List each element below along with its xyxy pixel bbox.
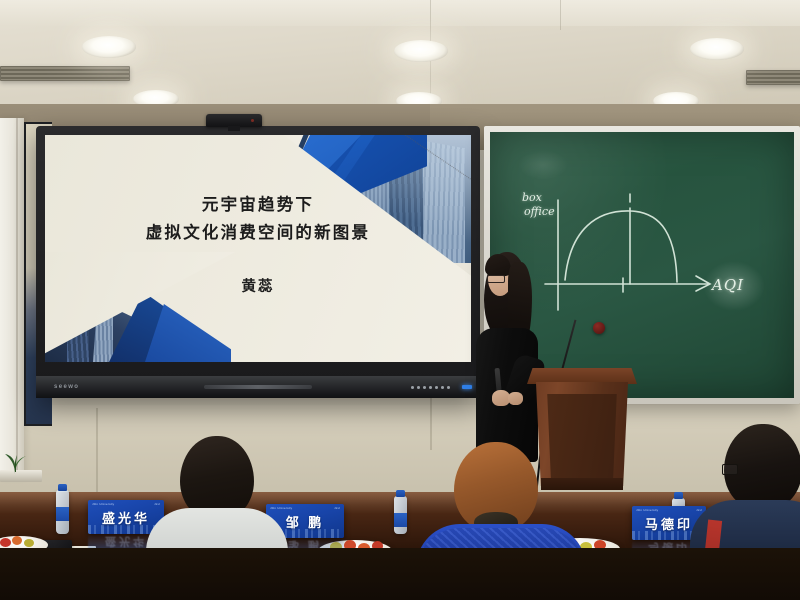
display-button[interactable] bbox=[429, 386, 432, 389]
ceiling-seam bbox=[560, 0, 561, 30]
nameplate-name: 盛光华 bbox=[102, 508, 150, 527]
camera-led-icon bbox=[251, 119, 254, 122]
display-ir-sensor-bar bbox=[204, 385, 312, 389]
bottle-cap bbox=[396, 490, 405, 497]
bottle-label bbox=[56, 507, 69, 521]
slide-text-block: 元宇宙趋势下 虚拟文化消费空间的新图景 黄蕊 bbox=[45, 135, 471, 362]
ceiling bbox=[0, 0, 800, 112]
display-button[interactable] bbox=[441, 386, 444, 389]
nameplate-name: 邹 鹏 bbox=[286, 512, 325, 531]
nameplate-org-right: JLU bbox=[334, 506, 340, 510]
display-button[interactable] bbox=[423, 386, 426, 389]
display-button-row[interactable] bbox=[411, 386, 450, 389]
floor-microphone-head bbox=[593, 322, 605, 334]
display-screen[interactable]: 元宇宙趋势下 虚拟文化消费空间的新图景 黄蕊 bbox=[45, 135, 471, 362]
interactive-display[interactable]: 元宇宙趋势下 虚拟文化消费空间的新图景 黄蕊 seewo bbox=[36, 126, 480, 398]
fruit-piece bbox=[12, 536, 22, 545]
display-button[interactable] bbox=[417, 386, 420, 389]
lower-wall bbox=[0, 405, 800, 495]
bottle-cap bbox=[674, 492, 683, 499]
wall-column bbox=[0, 118, 24, 478]
lecture-room-scene: 元宇宙趋势下 虚拟文化消费空间的新图景 黄蕊 seewo bbox=[0, 0, 800, 600]
nameplate-name: 马德印 bbox=[645, 514, 693, 533]
downlight-2 bbox=[394, 40, 448, 62]
downlight-3 bbox=[690, 38, 744, 60]
attendee-glasses bbox=[722, 464, 738, 475]
display-button[interactable] bbox=[447, 386, 450, 389]
nameplate-header: Jilin University JLU bbox=[632, 506, 706, 513]
air-vent-left bbox=[0, 66, 130, 81]
display-brand-logo: seewo bbox=[54, 384, 79, 390]
slide-title-line-2: 虚拟文化消费空间的新图景 bbox=[146, 225, 370, 242]
presentation-slide: 元宇宙趋势下 虚拟文化消费空间的新图景 黄蕊 bbox=[45, 135, 471, 362]
potted-plant-icon bbox=[2, 440, 28, 474]
wall-column-edge bbox=[16, 118, 18, 478]
slide-title-line-1: 元宇宙趋势下 bbox=[202, 197, 314, 214]
nameplate-org-left: Jilin University bbox=[92, 502, 114, 506]
display-button[interactable] bbox=[435, 386, 438, 389]
table-front-panel bbox=[0, 548, 800, 600]
downlight-1 bbox=[82, 36, 136, 58]
chalk-y-axis-label-line-1: box bbox=[522, 192, 542, 204]
slide-author: 黄蕊 bbox=[242, 275, 275, 296]
chalk-x-axis-label: AQI bbox=[712, 278, 744, 294]
fruit-piece bbox=[0, 538, 11, 547]
bottle-label bbox=[394, 513, 407, 527]
chalk-y-axis-label-line-2: office bbox=[524, 206, 555, 218]
presenter-glasses bbox=[487, 275, 505, 283]
water-bottle[interactable] bbox=[56, 490, 69, 534]
camera-mount bbox=[228, 126, 240, 131]
display-bottom-bezel: seewo bbox=[36, 376, 480, 398]
fruit-piece bbox=[24, 539, 34, 547]
air-vent-right bbox=[746, 70, 800, 85]
water-bottle[interactable] bbox=[394, 496, 407, 534]
bottle-cap bbox=[58, 484, 67, 491]
wall-seam bbox=[96, 408, 98, 494]
presenter-hand bbox=[508, 392, 523, 405]
podium-top bbox=[527, 368, 637, 384]
nameplate-org-left: Jilin University bbox=[636, 508, 658, 512]
display-button[interactable] bbox=[411, 386, 414, 389]
ceiling-soffit bbox=[0, 0, 800, 26]
